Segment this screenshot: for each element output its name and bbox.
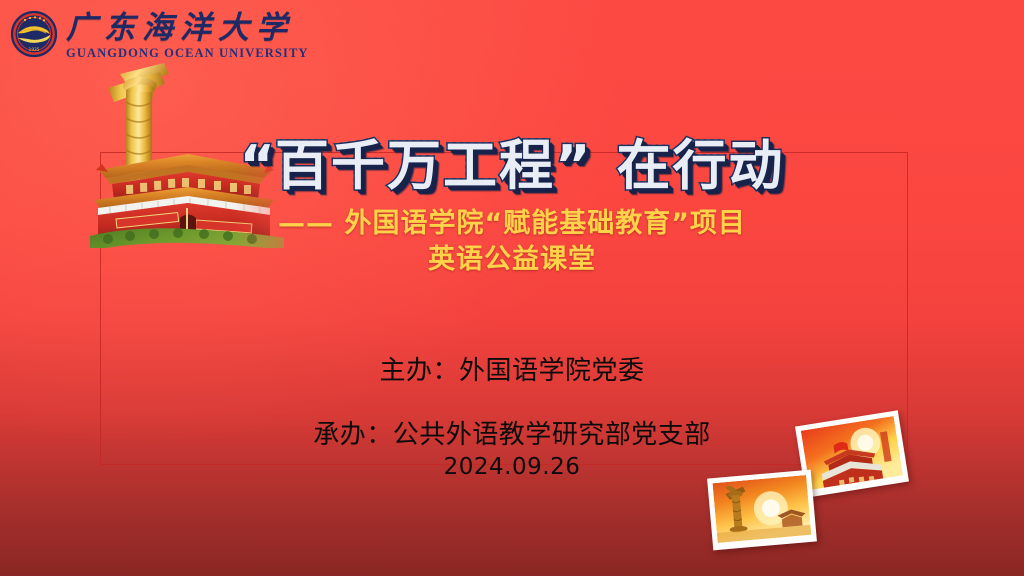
university-name-en: GUANGDONG OCEAN UNIVERSITY [66,47,309,60]
university-name-cn: 广东海洋大学 [66,12,309,45]
subtitle-line-1: —— 外国语学院“赋能基础教育”项目 [278,208,746,239]
svg-text:1935: 1935 [29,47,40,52]
photo-thumbnail-huabiao [707,470,817,551]
organizer-host: 主办：外国语学院党委 [0,358,1024,384]
photo-thumbnail-tiananmen [795,410,909,497]
presentation-slide: 1935 广东海洋大学 GUANGDONG OCEAN UNIVERSITY “… [0,0,1024,576]
subtitle-line-2: 英语公益课堂 [0,242,1024,278]
university-branding: 1935 广东海洋大学 GUANGDONG OCEAN UNIVERSITY [10,10,309,59]
subtitle-block: —— 外国语学院“赋能基础教育”项目 英语公益课堂 [0,206,1024,277]
university-logo-icon: 1935 [10,10,58,58]
